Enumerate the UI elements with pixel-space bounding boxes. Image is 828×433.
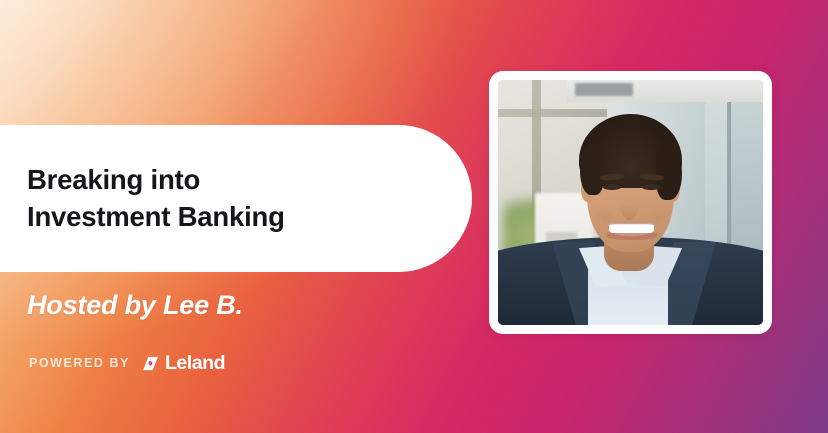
photo-bg-window-header [498,109,607,116]
host-label: Hosted by Lee B. [27,290,243,321]
photo-hair-side-right [656,144,683,200]
photo-bg-ceiling-fixture [575,83,633,95]
title-pill: Breaking into Investment Banking [0,125,472,272]
page-title-line-2: Investment Banking [27,199,472,235]
host-portrait [498,80,763,325]
photo-hair-side-left [580,144,604,195]
page-title-line-1: Breaking into [27,162,472,198]
powered-by-label: POWERED BY [29,356,130,370]
event-promo-banner: Breaking into Investment Banking Hosted … [0,0,828,433]
powered-by-row: POWERED BY Leland [29,352,225,374]
brand-wordmark: Leland [165,352,225,375]
host-photo-frame [489,71,772,334]
leland-diamond-icon [141,354,160,373]
